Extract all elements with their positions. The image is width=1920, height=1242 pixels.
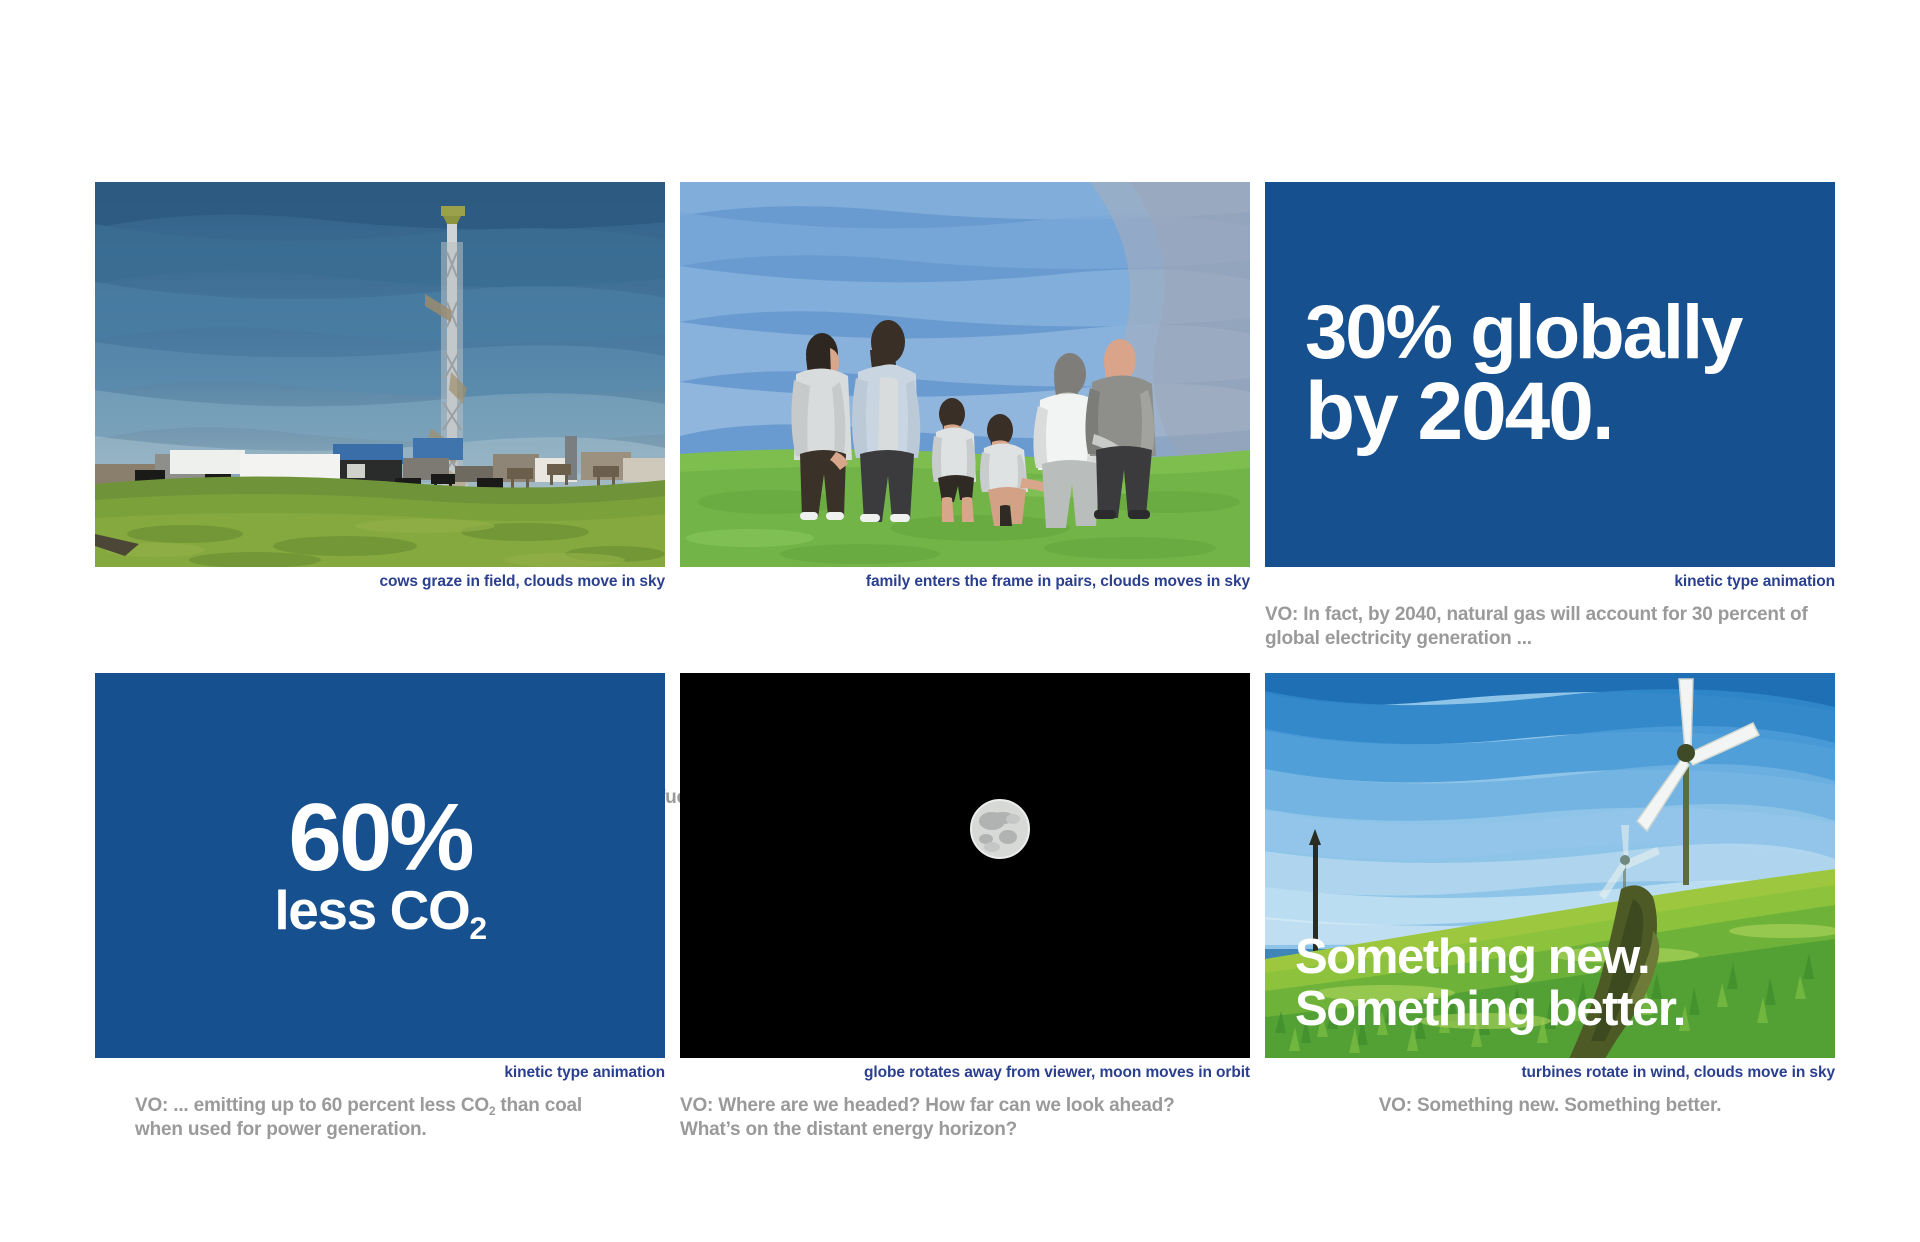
panel-vo-4-pre: VO: ... emitting up to 60 percent less C…	[135, 1095, 489, 1116]
panel-vo-5: VO: Where are we headed? How far can we …	[680, 1082, 1220, 1142]
panel-direction-5: globe rotates away from viewer, moon mov…	[680, 1058, 1250, 1082]
headline-less-co2-text: less CO	[274, 879, 469, 941]
panel-vo-6: VO: Something new. Something better.	[1265, 1082, 1835, 1118]
scene-overlay-headline: Something new. Something better.	[1295, 932, 1685, 1036]
storyboard-grid: cows graze in field, clouds move in sky	[95, 182, 1835, 1142]
storyboard-cell-4: 60% less CO2 kinetic type animation VO: …	[95, 673, 665, 1142]
storyboard-cell-1: cows graze in field, clouds move in sky	[95, 182, 665, 651]
panel-frame-family[interactable]	[680, 182, 1250, 567]
headline-line-2: by 2040.	[1305, 370, 1835, 454]
panel-frame-drilling-rig[interactable]	[95, 182, 665, 567]
storyboard-cell-5: globe rotates away from viewer, moon mov…	[680, 673, 1250, 1142]
storyboard-page: cows graze in field, clouds move in sky	[0, 0, 1920, 1242]
headline-line-1: 30% globally	[1305, 295, 1835, 370]
panel-vo-4: VO: ... emitting up to 60 percent less C…	[95, 1082, 625, 1142]
scene-kinetic-type-30: 30% globally by 2040.	[1265, 182, 1835, 567]
storyboard-cell-3: 30% globally by 2040. kinetic type anima…	[1265, 182, 1835, 651]
scene-kinetic-type-60: 60% less CO2	[95, 673, 665, 1058]
panel-vo-4-sub: 2	[489, 1105, 495, 1118]
panel-direction-4: kinetic type animation	[95, 1058, 665, 1082]
panel-direction-3: kinetic type animation	[1265, 567, 1835, 591]
headline-less-co2: less CO2	[274, 883, 485, 938]
panel-direction-6: turbines rotate in wind, clouds move in …	[1265, 1058, 1835, 1082]
storyboard-cell-6: Something new. Something better. turbine…	[1265, 673, 1835, 1142]
overlay-line-2: Something better.	[1295, 984, 1685, 1036]
panel-direction-1: cows graze in field, clouds move in sky	[95, 567, 665, 591]
headline-60-percent: 60%	[288, 792, 471, 883]
scene-earth-and-moon-from-space	[680, 673, 1250, 1058]
panel-frame-30-percent[interactable]: 30% globally by 2040.	[1265, 182, 1835, 567]
headline-co2-subscript: 2	[469, 910, 485, 946]
panel-frame-wind-turbines[interactable]: Something new. Something better.	[1265, 673, 1835, 1058]
panel-frame-60-percent[interactable]: 60% less CO2	[95, 673, 665, 1058]
scene-drilling-rig-cattle-field	[95, 182, 665, 567]
panel-vo-3: VO: In fact, by 2040, natural gas will a…	[1265, 591, 1825, 651]
panel-direction-2: family enters the frame in pairs, clouds…	[680, 567, 1250, 591]
panel-frame-earth-moon[interactable]	[680, 673, 1250, 1058]
storyboard-cell-2: family enters the frame in pairs, clouds…	[680, 182, 1250, 651]
overlay-line-1: Something new.	[1295, 932, 1685, 984]
scene-family-standing-in-field	[680, 182, 1250, 567]
